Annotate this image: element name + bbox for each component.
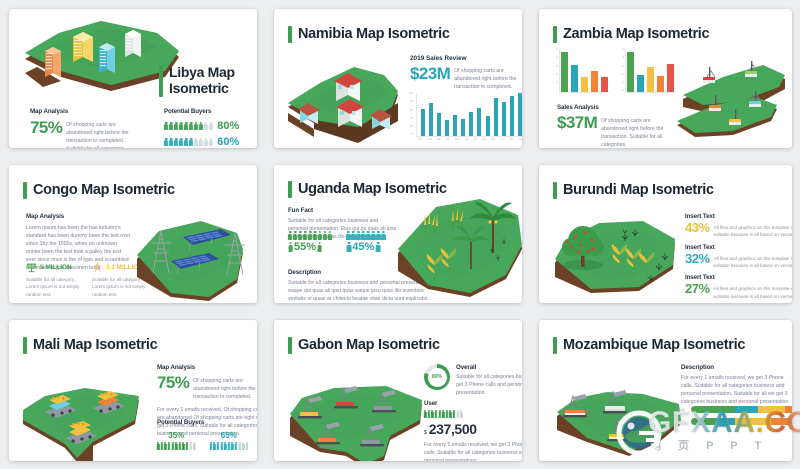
chart-heading-rest: Sales Review <box>426 55 467 62</box>
page-title-line2: Isometric <box>169 81 235 97</box>
chart-y-axis: 543210 <box>617 49 624 93</box>
slide-cell-gabon[interactable]: Gabon Map Isometric <box>265 311 530 469</box>
burundi-stat-item: Insert Text 27% All files and graphics o… <box>685 274 792 300</box>
x-tick: Jul <box>474 139 477 142</box>
slide-zambia[interactable]: Zambia Map Isometric 543210 543210 <box>539 9 792 148</box>
map-analysis-heading: Map Analysis <box>157 364 257 371</box>
fun-fact-heading: Fun Fact <box>288 207 398 214</box>
bar <box>510 96 514 136</box>
solar-panel-icon <box>26 262 37 273</box>
title-accent-bar <box>553 26 557 43</box>
slide-congo[interactable]: Congo Map Isometric Map Analysis Lorem I… <box>9 165 257 303</box>
bar <box>647 67 654 92</box>
uganda-stats: 55% 45% <box>288 231 386 253</box>
sales-analysis-block: Sales Analysis $37M Of shopping carts ar… <box>557 104 677 148</box>
stack-row-label-2: 2019 <box>677 420 688 424</box>
slide-cell-mozambique[interactable]: Mozambique Map Isometric <box>530 311 800 469</box>
slide-cell-zambia[interactable]: Zambia Map Isometric 543210 543210 <box>530 0 800 156</box>
page-title-text: Namibia Map Isometric <box>298 26 450 42</box>
slide-libya[interactable]: Libya Map Isometric Map Analysis 75% Of … <box>9 9 257 148</box>
amount-value: 237,500 <box>429 421 477 437</box>
bar <box>421 109 425 136</box>
map-analysis-block: Map Analysis 75% Of shopping carts are a… <box>30 108 142 148</box>
slide-namibia[interactable]: Namibia Map Isometric <box>274 9 522 148</box>
x-tick: Sep <box>491 139 496 142</box>
bar <box>561 52 568 92</box>
bar <box>453 115 457 137</box>
people-bar-60 <box>164 138 213 147</box>
congo-stat-value-1: 5 MILLION <box>40 264 72 271</box>
page-title: Namibia Map Isometric <box>288 26 450 43</box>
chart-y-axis: 100806040200 <box>406 93 413 137</box>
map-analysis-heading: Map Analysis <box>26 213 131 220</box>
title-accent-bar <box>288 181 292 198</box>
stack-seg <box>785 406 792 413</box>
sales-analysis-heading: Sales Analysis <box>557 104 677 111</box>
bar <box>477 108 481 136</box>
stack-seg <box>735 406 758 413</box>
isometric-map-with-tree-and-crops-art <box>547 207 695 303</box>
x-tick: Jun <box>465 139 469 142</box>
bar <box>469 112 473 136</box>
bar <box>581 77 588 92</box>
bar <box>601 77 608 92</box>
title-accent-bar <box>159 65 163 97</box>
slide-cell-mali[interactable]: Mali Map Isometric <box>0 311 265 469</box>
chart-year: 2019 <box>410 55 424 62</box>
bar <box>486 116 490 136</box>
isometric-map-with-solar-panels-and-pylons-art <box>131 203 257 303</box>
mali-buyers-value-1: 35% <box>157 431 196 440</box>
congo-stat-note-1: Suitable for all category, Lorem Ipsum i… <box>26 276 84 298</box>
slide-cell-congo[interactable]: Congo Map Isometric Map Analysis Lorem I… <box>0 156 265 311</box>
x-tick: Mar <box>437 139 441 142</box>
buyers-value-1: 80% <box>217 120 239 132</box>
page-title-text: Mali Map Isometric <box>33 337 157 353</box>
comb-bar-65 <box>210 442 249 450</box>
title-accent-bar <box>288 26 292 43</box>
potential-buyers-heading: Potential Buyers <box>164 108 257 115</box>
bar <box>657 76 664 92</box>
page-title: Gabon Map Isometric <box>288 337 440 354</box>
x-tick: Dec <box>519 139 522 142</box>
page-title: Mozambique Map Isometric <box>553 337 745 354</box>
buyers-value-2: 60% <box>217 136 239 148</box>
bar <box>627 52 634 92</box>
potential-buyers-heading: Potential Buyers <box>157 419 257 426</box>
page-title: Mali Map Isometric <box>23 337 157 354</box>
stack-seg <box>758 406 785 413</box>
burundi-value-3: 27% <box>685 281 710 296</box>
isometric-map-with-oil-derricks-art <box>280 368 430 461</box>
burundi-value-1: 43% <box>685 220 710 235</box>
burundi-label-2: Insert Text <box>685 244 792 251</box>
x-tick: Jan <box>418 139 422 142</box>
stack-row-1 <box>691 406 792 413</box>
comb-bar-35 <box>157 442 196 450</box>
sales-amount: $23M <box>410 64 450 84</box>
comb-bar-user <box>424 410 522 418</box>
description-block: Description For every 1 emails received,… <box>681 364 792 406</box>
user-block: User $ 237,500 For every 1 emails receiv… <box>424 400 522 461</box>
page-title-line1: Libya Map <box>169 65 235 81</box>
page-title: Libya Map Isometric <box>159 65 235 97</box>
stacked-bar-chart: 2018 2019 <box>677 406 792 425</box>
chart-bars <box>560 49 609 92</box>
uganda-value-2: 45% <box>352 241 374 253</box>
page-title-text: Mozambique Map Isometric <box>563 337 745 353</box>
page-title-text: Zambia Map Isometric <box>563 26 709 42</box>
mali-buyers-value-2: 65% <box>210 431 249 440</box>
x-tick: Feb <box>427 139 431 142</box>
overall-block: 80% Overall Suitable for all categories … <box>424 364 522 397</box>
donut-value: 80% <box>432 374 442 380</box>
chart-bars <box>417 93 522 136</box>
page-title-text: Gabon Map Isometric <box>298 337 440 353</box>
slide-gabon[interactable]: Gabon Map Isometric <box>274 320 522 461</box>
burundi-stats: Insert Text 43% All files and graphics o… <box>685 213 792 300</box>
potential-buyers-block: Potential Buyers 35% <box>157 419 257 450</box>
bar <box>591 71 598 92</box>
description-body: For every 1 emails received, we get 3 Ph… <box>681 374 792 406</box>
bar <box>445 120 449 136</box>
slide-cell-uganda[interactable]: Uganda Map Isometric Fun Fact Suitable f… <box>265 156 530 311</box>
page-title-text: Congo Map Isometric <box>33 182 175 198</box>
burundi-value-2: 32% <box>685 251 710 266</box>
people-bar-80 <box>164 122 213 131</box>
bar <box>571 65 578 92</box>
burundi-label-1: Insert Text <box>685 213 792 220</box>
description-heading: Description <box>681 364 792 371</box>
slide-cell-libya[interactable]: Libya Map Isometric Map Analysis 75% Of … <box>0 0 265 156</box>
people-row-green <box>288 231 332 240</box>
stack-seg <box>691 406 735 413</box>
stack-seg <box>691 418 718 425</box>
title-accent-bar <box>553 337 557 354</box>
amount-note: For every 1 emails received, we get 3 Ph… <box>424 441 522 461</box>
slide-mozambique[interactable]: Mozambique Map Isometric <box>539 320 792 461</box>
sales-review-block: 2019 Sales Review $23M Of shopping carts… <box>410 55 522 91</box>
map-analysis-heading: Map Analysis <box>30 108 142 115</box>
overall-donut-chart: 80% <box>424 364 450 390</box>
stack-row-2 <box>691 418 792 425</box>
bar <box>637 75 644 92</box>
stack-row-label-1: 2018 <box>677 408 688 412</box>
monthly-sales-bar-chart: 100806040200 <box>406 93 522 147</box>
stat-green: 55% <box>288 231 332 253</box>
isometric-map-with-oil-pumps-art <box>667 47 792 148</box>
burundi-label-3: Insert Text <box>685 274 792 281</box>
map-analysis-value: 75% <box>157 373 189 393</box>
stack-seg <box>771 418 792 425</box>
slide-cell-burundi[interactable]: Burundi Map Isometric <box>530 156 800 311</box>
burundi-note-3: All files and graphics on this template … <box>714 281 792 300</box>
sales-analysis-value: $37M <box>557 113 597 133</box>
page-title-text: Burundi Map Isometric <box>563 182 714 198</box>
slide-uganda[interactable]: Uganda Map Isometric Fun Fact Suitable f… <box>274 165 522 303</box>
bar <box>518 93 522 136</box>
burundi-stat-item: Insert Text 43% All files and graphics o… <box>685 213 792 239</box>
stack-seg <box>735 418 771 425</box>
map-analysis-note: Of shopping carts are abandoned right be… <box>193 373 257 401</box>
chart-y-axis: 543210 <box>551 49 558 93</box>
x-tick: Nov <box>509 139 514 142</box>
burundi-note-2: All files and graphics on this template … <box>714 251 792 270</box>
slide-burundi[interactable]: Burundi Map Isometric <box>539 165 792 303</box>
bar <box>429 103 433 136</box>
x-tick: Apr <box>446 139 450 142</box>
burundi-stat-item: Insert Text 32% All files and graphics o… <box>685 244 792 270</box>
title-accent-bar <box>553 182 557 199</box>
page-title: Congo Map Isometric <box>23 182 175 199</box>
uganda-value-1: 55% <box>294 241 316 253</box>
chart-x-axis: Jan Feb Mar Apr May Jun Jul Aug Sep Oct … <box>416 139 522 142</box>
bar <box>461 119 465 136</box>
title-accent-bar <box>288 337 292 354</box>
bar <box>494 98 498 136</box>
slide-cell-namibia[interactable]: Namibia Map Isometric <box>265 0 530 156</box>
burundi-note-1: All files and graphics on this template … <box>714 220 792 239</box>
sales-analysis-note: Of shopping carts are abandoned right be… <box>601 113 677 148</box>
pylon-icon <box>92 262 103 273</box>
title-accent-bar <box>23 182 27 199</box>
people-row-teal <box>346 231 385 240</box>
title-accent-bar <box>23 337 27 354</box>
stack-seg <box>718 418 735 425</box>
bar <box>502 102 506 136</box>
stat-teal: 45% <box>346 231 385 253</box>
isometric-map-with-trains-art <box>15 370 161 461</box>
page-title: Burundi Map Isometric <box>553 182 714 199</box>
sales-amount-note: Of shopping carts are abandoned right be… <box>454 64 522 91</box>
page-title: Zambia Map Isometric <box>553 26 709 43</box>
slide-mali[interactable]: Mali Map Isometric <box>9 320 257 461</box>
isometric-map-with-crops-and-palms-art <box>392 191 522 303</box>
sales-bar-chart-1: 543210 <box>551 49 609 97</box>
x-tick: Oct <box>501 139 505 142</box>
isometric-map-with-refineries-art <box>543 368 695 461</box>
amount-symbol: $ <box>424 430 427 436</box>
overall-body: Suitable for all categories business we … <box>456 373 522 397</box>
overall-heading: Overall <box>456 364 522 371</box>
user-heading: User <box>424 400 522 407</box>
map-analysis-value: 75% <box>30 118 62 138</box>
x-tick: May <box>455 139 460 142</box>
bar <box>437 113 441 136</box>
potential-buyers-block: Potential Buyers 80% <box>164 108 257 148</box>
x-tick: Aug <box>482 139 487 142</box>
map-analysis-note: Of shopping carts are abandoned right be… <box>66 118 142 148</box>
slide-grid: Libya Map Isometric Map Analysis 75% Of … <box>0 0 800 469</box>
